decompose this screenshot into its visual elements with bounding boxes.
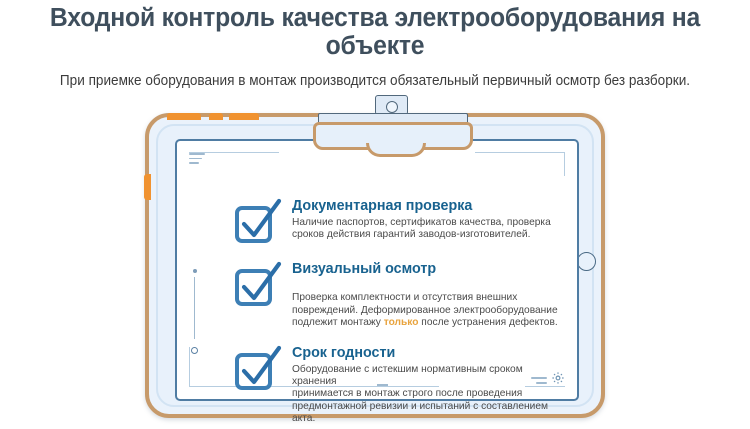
vertical-slider-control[interactable]: [191, 269, 199, 354]
clipboard-clamp: [313, 95, 473, 151]
slider-dot-top: [193, 269, 197, 273]
checklist-item-description: Проверка комплектности и отсутствия внеш…: [292, 280, 558, 330]
clamp-body: [313, 122, 473, 150]
hamburger-menu-icon[interactable]: [189, 153, 205, 167]
checkbox-checked-icon[interactable]: [234, 345, 282, 393]
tablet-body: Документарная проверка Наличие паспортов…: [145, 113, 605, 418]
accent-button-top-left: [167, 113, 201, 120]
checklist-item-title: Документарная проверка: [292, 198, 551, 215]
checklist-item-title: Срок годности: [292, 345, 559, 362]
checklist-item-text: Документарная проверка Наличие паспортов…: [292, 196, 556, 242]
description-part-2: после устранения дефектов.: [418, 317, 557, 328]
clamp-notch: [366, 143, 426, 157]
page-subtitle: При приемке оборудования в монтаж произв…: [26, 72, 724, 90]
checklist-item[interactable]: Визуальный осмотр Проверка комплектности…: [234, 259, 564, 330]
checklist-item-title: Визуальный осмотр: [292, 261, 558, 278]
checklist-item[interactable]: Документарная проверка Наличие паспортов…: [234, 196, 564, 246]
checklist-item-description: Оборудование с истекшим нормативным срок…: [292, 364, 559, 426]
checklist-item[interactable]: Срок годности Оборудование с истекшим но…: [234, 343, 564, 426]
header: Входной контроль качества электрооборудо…: [0, 0, 750, 90]
slider-handle[interactable]: [191, 347, 198, 354]
clamp-hole: [386, 101, 398, 113]
clamp-hanger-tab: [375, 95, 408, 115]
checkbox-checked-icon[interactable]: [234, 261, 282, 309]
accent-button-top-right: [229, 113, 259, 120]
gear-icon[interactable]: [551, 371, 565, 390]
highlighted-word: только: [384, 317, 419, 328]
decorative-lines: [531, 377, 547, 383]
settings-row[interactable]: [531, 371, 565, 390]
accent-button-left-side: [144, 174, 151, 200]
corner-bracket-top-right: [475, 152, 565, 176]
accent-button-top-mid: [209, 113, 223, 120]
checklist: Документарная проверка Наличие паспортов…: [234, 196, 564, 426]
tablet-clipboard-illustration: Документарная проверка Наличие паспортов…: [145, 113, 605, 418]
slider-rail: [194, 277, 195, 339]
checklist-item-text: Срок годности Оборудование с истекшим но…: [292, 343, 564, 426]
tablet-screen: Документарная проверка Наличие паспортов…: [175, 139, 579, 401]
decorative-dash: [377, 384, 388, 386]
home-button[interactable]: [577, 252, 596, 271]
checkbox-checked-icon[interactable]: [234, 198, 282, 246]
checklist-item-description: Наличие паспортов, сертификатов качества…: [292, 217, 551, 242]
page-title: Входной контроль качества электрооборудо…: [11, 4, 739, 60]
checklist-item-text: Визуальный осмотр Проверка комплектности…: [292, 259, 563, 330]
